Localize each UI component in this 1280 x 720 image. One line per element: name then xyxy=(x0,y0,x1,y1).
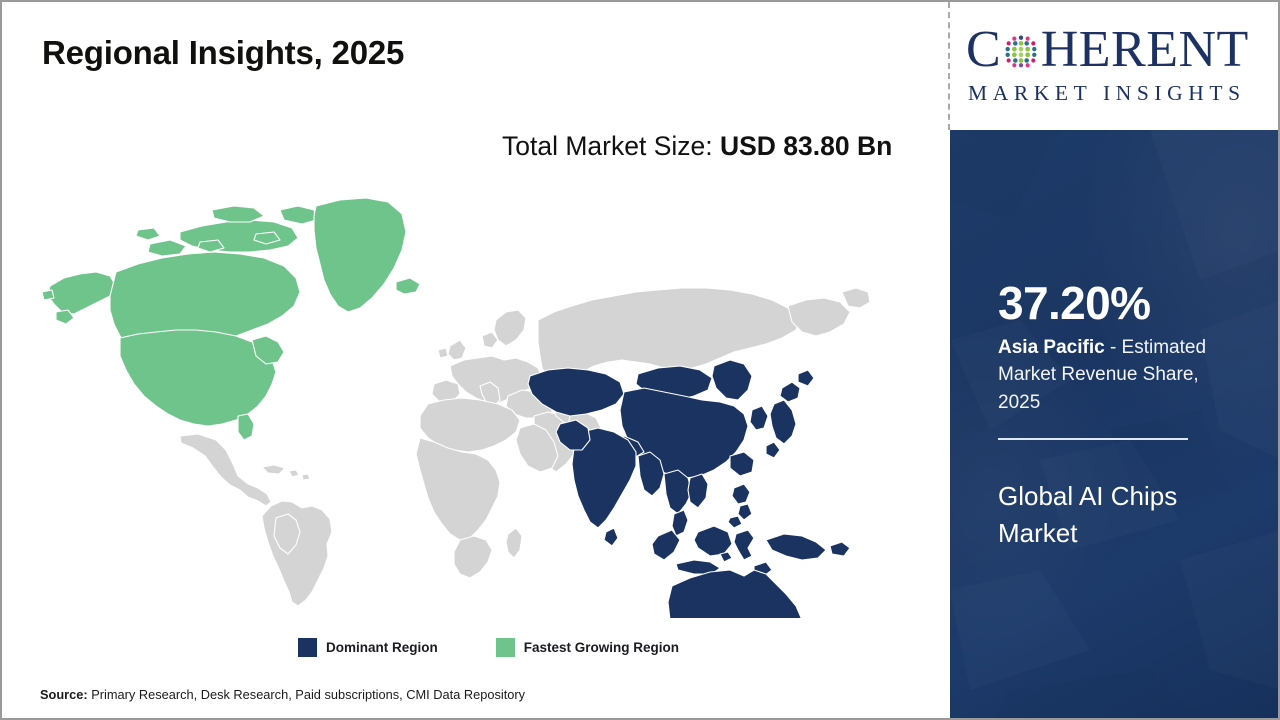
brand-logo: C xyxy=(950,2,1280,130)
region-name: Asia Pacific xyxy=(998,337,1105,358)
map-legend: Dominant Region Fastest Growing Region xyxy=(298,638,679,657)
regional-insights-slide: Regional Insights, 2025 Total Market Siz… xyxy=(0,0,1280,720)
map-region-inactive xyxy=(180,288,910,618)
total-market-size: Total Market Size: USD 83.80 Bn xyxy=(502,128,914,166)
brand-tagline: MARKET INSIGHTS xyxy=(966,81,1280,106)
legend-swatch-green xyxy=(496,638,515,657)
stat-panel: 37.20% Asia Pacific - Estimated Market R… xyxy=(950,130,1280,720)
legend-label-fastest-growing: Fastest Growing Region xyxy=(524,640,679,655)
legend-item-dominant: Dominant Region xyxy=(298,638,438,657)
panel-divider xyxy=(998,438,1188,440)
legend-item-fastest-growing: Fastest Growing Region xyxy=(496,638,679,657)
market-name: Global AI Chips Market xyxy=(998,478,1238,552)
page-title: Regional Insights, 2025 xyxy=(42,34,404,72)
brand-logo-wordmark: C xyxy=(966,27,1280,75)
legend-swatch-navy xyxy=(298,638,317,657)
legend-label-dominant: Dominant Region xyxy=(326,640,438,655)
source-label: Source: xyxy=(40,687,88,702)
world-map xyxy=(30,188,920,618)
stat-panel-content: 37.20% Asia Pacific - Estimated Market R… xyxy=(998,280,1238,552)
total-market-size-value: USD 83.80 Bn xyxy=(720,131,892,161)
source-text: Primary Research, Desk Research, Paid su… xyxy=(88,687,525,702)
source-note: Source: Primary Research, Desk Research,… xyxy=(40,687,525,702)
map-region-dominant xyxy=(528,360,872,618)
total-market-size-label: Total Market Size: xyxy=(502,131,720,161)
map-region-fastest-growing xyxy=(42,198,420,440)
brand-letter-c: C xyxy=(966,28,1001,72)
brand-letters-herent: HERENT xyxy=(1041,28,1249,72)
globe-dots-icon xyxy=(1002,32,1040,70)
revenue-share-description: Asia Pacific - Estimated Market Revenue … xyxy=(998,334,1238,416)
revenue-share-percentage: 37.20% xyxy=(998,280,1238,326)
